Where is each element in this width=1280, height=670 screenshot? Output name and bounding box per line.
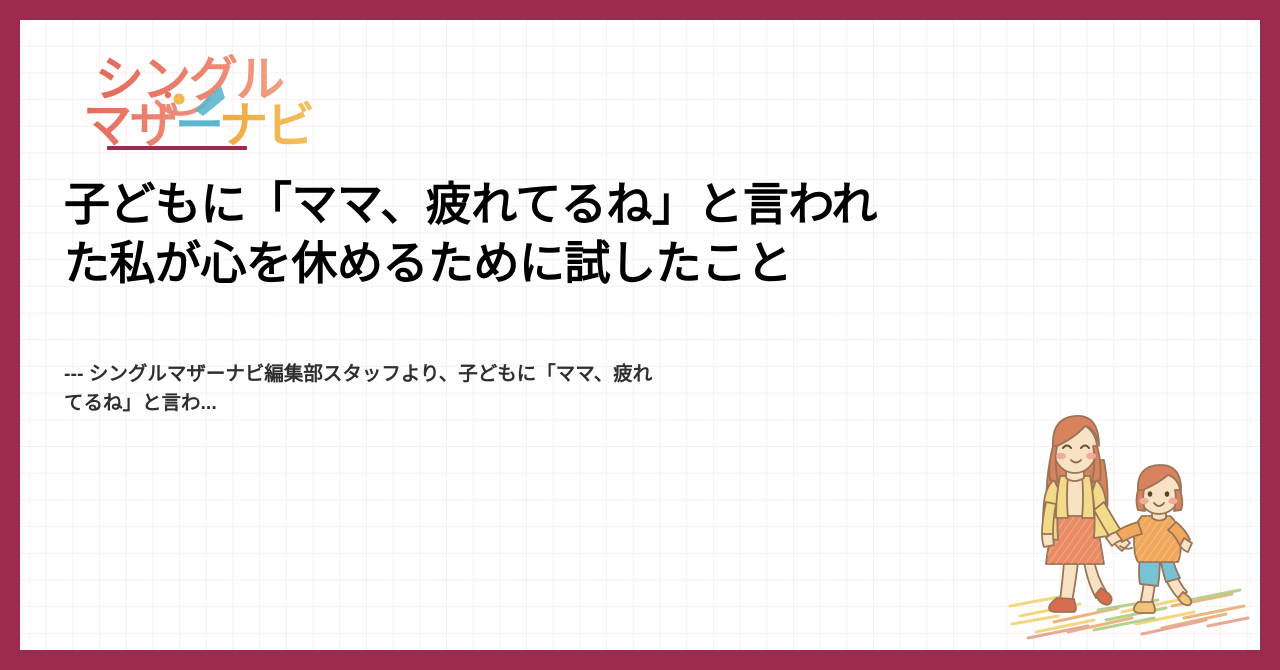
article-sheet: シングル マザ ー ナビ 子どもに「ママ、疲れてるね」と言われた私が心を休めるた…	[20, 20, 1260, 650]
article-excerpt: --- シングルマザーナビ編集部スタッフより、子どもに「ママ、疲れてるね」と言わ…	[64, 360, 664, 419]
mother-and-child-illustration	[1002, 410, 1252, 650]
child-figure	[1106, 465, 1192, 613]
site-logo[interactable]: シングル マザ ー ナビ	[75, 38, 325, 158]
article-title: 子どもに「ママ、疲れてるね」と言われた私が心を休めるために試したこと	[64, 175, 914, 293]
article-card: シングル マザ ー ナビ 子どもに「ママ、疲れてるね」と言われた私が心を休めるた…	[0, 0, 1280, 670]
svg-text:マザ: マザ	[83, 99, 178, 153]
mother-figure	[1042, 416, 1130, 612]
svg-text:ー: ー	[175, 99, 222, 153]
mother-and-child-graphic	[1002, 410, 1252, 650]
svg-text:ナビ: ナビ	[219, 99, 313, 153]
ground-strokes	[1010, 590, 1248, 638]
logo-divider	[107, 146, 247, 150]
site-logo-graphic: シングル マザ ー ナビ	[75, 38, 325, 158]
